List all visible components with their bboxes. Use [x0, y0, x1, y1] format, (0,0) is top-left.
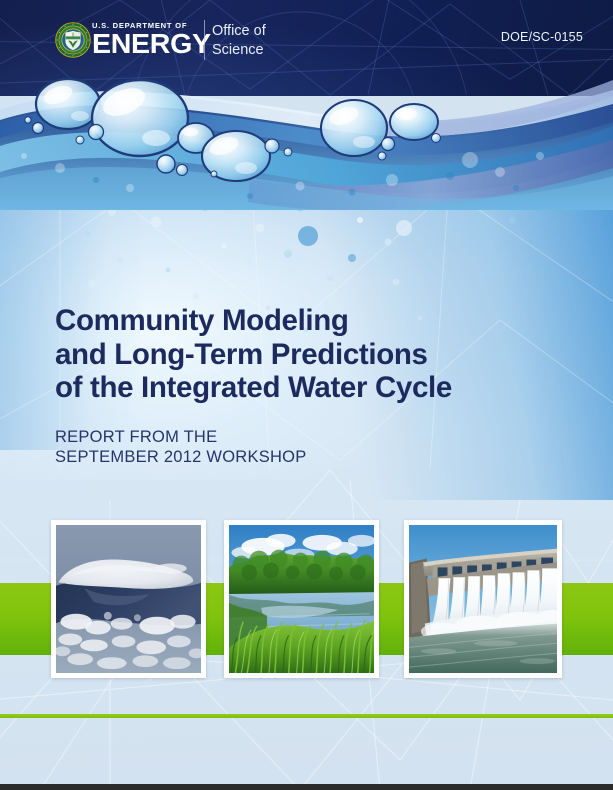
photo-row	[0, 520, 613, 680]
wordmark-divider	[204, 20, 205, 60]
title-line-2: and Long-Term Predictions	[55, 338, 555, 372]
report-number: DOE/SC-0155	[501, 30, 583, 44]
photo-dam-spillway	[404, 520, 562, 678]
photo-river-wetland	[224, 520, 379, 678]
page-title: Community Modeling and Long-Term Predict…	[55, 304, 555, 405]
subtitle-line-2: SEPTEMBER 2012 WORKSHOP	[55, 448, 307, 468]
title-line-3: of the Integrated Water Cycle	[55, 371, 555, 405]
office-line-2: Science	[212, 41, 266, 60]
office-line-1: Office of	[212, 22, 266, 41]
dam-photo	[409, 525, 557, 673]
photo-storm-cloud	[51, 520, 206, 678]
title-line-1: Community Modeling	[55, 304, 555, 338]
office-of-science-label: Office of Science	[212, 22, 266, 59]
water-wave-bubbles-graphic	[0, 60, 613, 210]
agency-energy-label: ENERGY	[92, 30, 211, 57]
cloud-photo	[56, 525, 201, 673]
doe-seal-icon	[55, 22, 91, 58]
page-subtitle: REPORT FROM THE SEPTEMBER 2012 WORKSHOP	[55, 428, 307, 467]
page-bottom-edge	[0, 784, 613, 790]
doe-wordmark: U.S. DEPARTMENT OF ENERGY	[92, 21, 208, 57]
report-cover-page: U.S. DEPARTMENT OF ENERGY Office of Scie…	[0, 0, 613, 790]
green-accent-rule	[0, 714, 613, 718]
river-photo	[229, 525, 374, 673]
subtitle-line-1: REPORT FROM THE	[55, 428, 307, 448]
